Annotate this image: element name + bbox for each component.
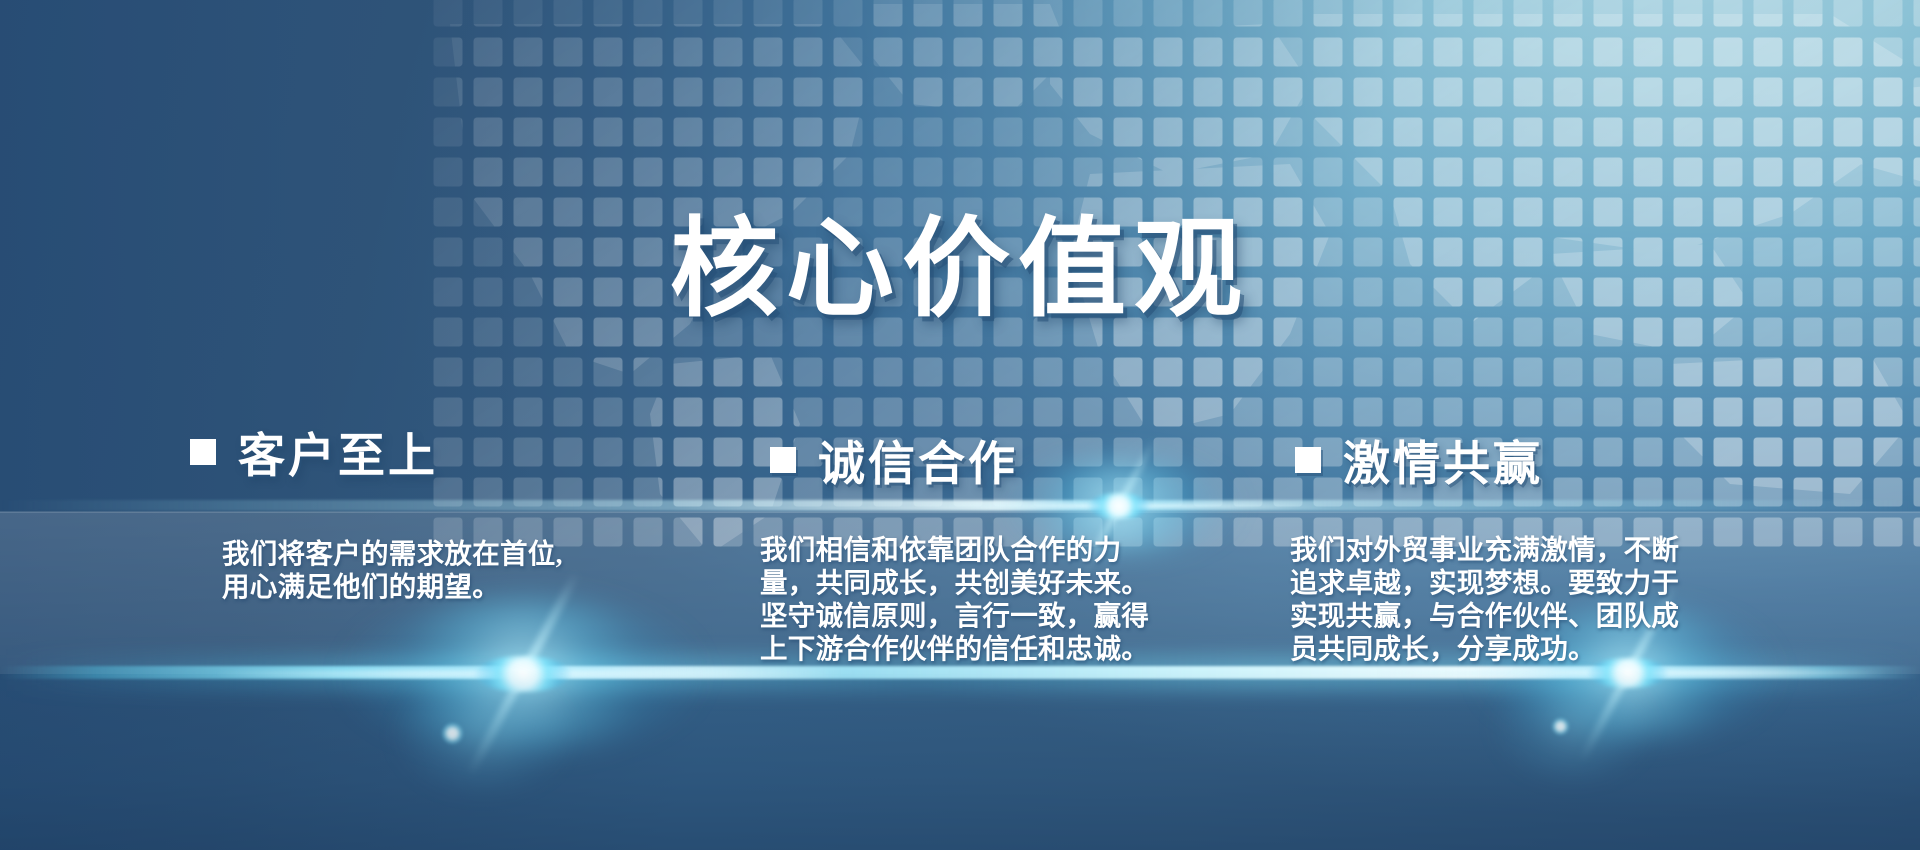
value-heading-3: 激情共赢: [1295, 425, 1543, 494]
bottom-vignette: [0, 670, 1920, 850]
value-heading-1-label: 客户至上: [238, 417, 438, 486]
value-heading-2-label: 诚信合作: [818, 425, 1018, 494]
value-body-3: 我们对外贸事业充满激情，不断追求卓越，实现梦想。要致力于实现共赢，与合作伙伴、团…: [1290, 533, 1690, 665]
square-bullet-icon: [1295, 447, 1321, 473]
value-body-2: 我们相信和依靠团队合作的力量，共同成长，共创美好未来。坚守诚信原则，言行一致，赢…: [760, 533, 1160, 665]
value-body-1: 我们将客户的需求放在首位, 用心满足他们的期望。: [222, 537, 572, 603]
square-bullet-icon: [190, 439, 216, 465]
square-bullet-icon: [770, 447, 796, 473]
page-title: 核心价值观: [0, 182, 1920, 338]
value-heading-1: 客户至上: [190, 417, 438, 486]
value-heading-2: 诚信合作: [770, 425, 1018, 494]
value-heading-3-label: 激情共赢: [1343, 425, 1543, 494]
core-values-banner: 核心价值观 客户至上 我们将客户的需求放在首位, 用心满足他们的期望。 诚信合作…: [0, 0, 1920, 850]
